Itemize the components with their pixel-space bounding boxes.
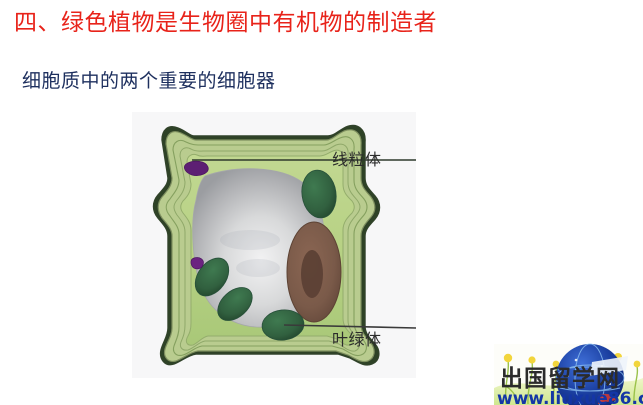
label-mitochondria: 线粒体 [332, 150, 382, 170]
watermark: 出国留学网 www.liuxue86.com [494, 326, 643, 405]
label-chloroplast: 叶绿体 [332, 330, 382, 350]
mitochondrion-left [191, 257, 203, 268]
nucleolus [301, 250, 323, 298]
mitochondrion-top [184, 161, 208, 175]
watermark-url: www.liuxue86.com [497, 390, 643, 405]
slide-subtitle: 细胞质中的两个重要的细胞器 [22, 68, 276, 94]
page-title: 四、绿色植物是生物圈中有机物的制造者 [14, 8, 437, 38]
